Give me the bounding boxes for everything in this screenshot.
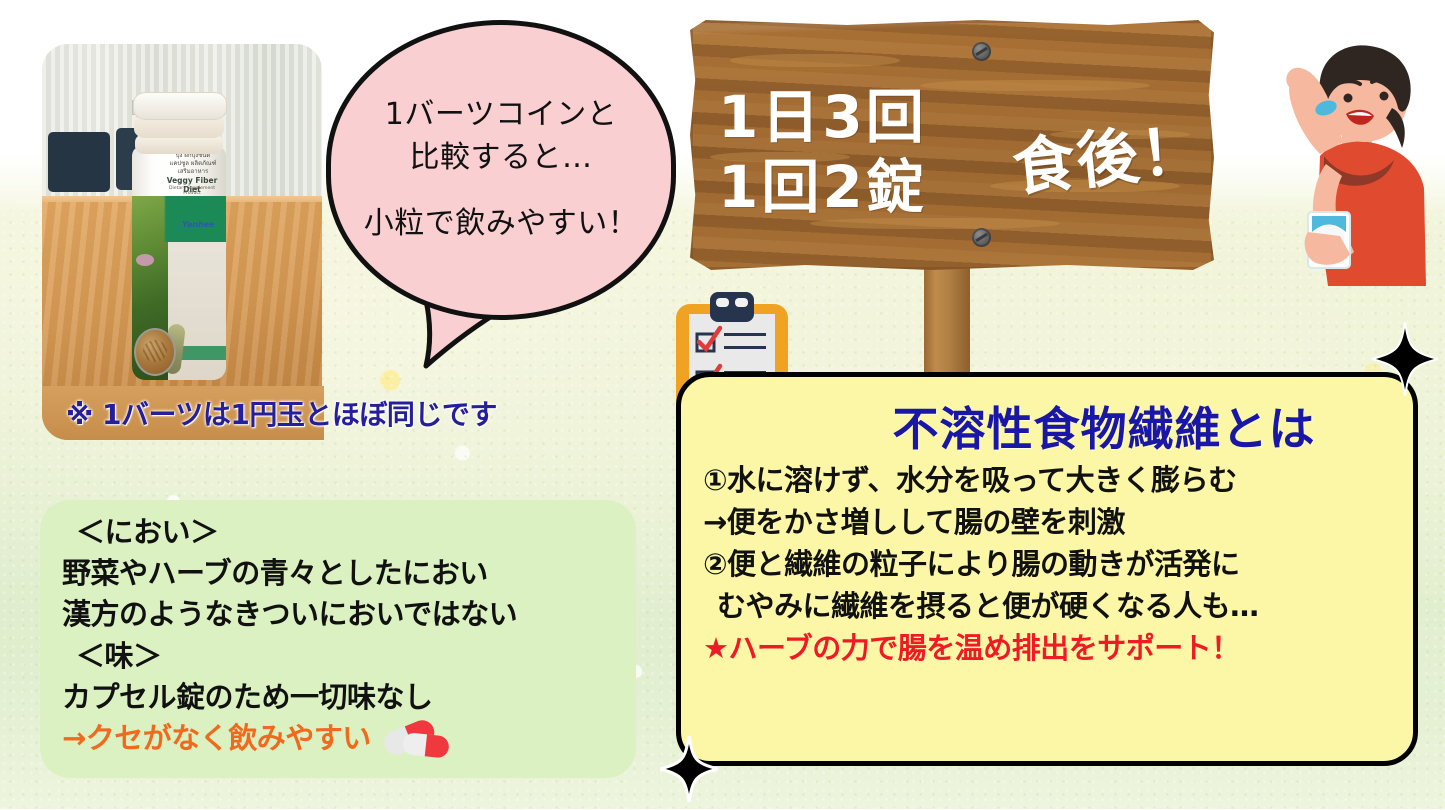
yellow-panel-line-1: ①水に溶けず、水分を吸って大きく膨らむ xyxy=(703,459,1395,501)
person-taking-pill-illustration xyxy=(1268,36,1445,326)
wooden-sign: 1日3回 1回2錠 食後！ xyxy=(690,20,1214,270)
insoluble-fiber-panel: 不溶性食物繊維とは ①水に溶けず、水分を吸って大きく膨らむ →便をかさ増しして腸… xyxy=(676,372,1418,766)
smell-and-taste-panel: ＜におい＞ 野菜やハーブの青々としたにおい 漢方のようなきついにおいではない ＜… xyxy=(40,500,636,778)
yellow-panel-line-4: むやみに繊維を摂ると便が硬くなる人も… xyxy=(703,585,1395,627)
sparkle-icon-right xyxy=(1372,322,1438,396)
sparkle-icon-left xyxy=(660,736,718,802)
bottle-brand-name: Yanhee xyxy=(182,220,214,229)
sign-screw-bottom xyxy=(972,228,991,247)
sign-screw-top xyxy=(972,42,991,61)
clipboard-clip-hole-left xyxy=(716,298,729,307)
photo-baht-coin xyxy=(134,328,176,376)
wood-grain-streak xyxy=(730,54,900,67)
green-panel-smell-line-2: 漢方のようなきついにおいではない xyxy=(62,594,616,635)
clipboard-line-1b xyxy=(724,346,766,349)
photo-chair-left xyxy=(48,132,110,192)
capsule-pills-icon xyxy=(379,718,453,758)
sign-text-line-2: 1回2錠 xyxy=(718,140,927,224)
clipboard-clip xyxy=(710,292,754,322)
green-panel-smell-heading: ＜におい＞ xyxy=(62,512,616,553)
person-eye-left xyxy=(1344,94,1353,103)
bottle-product-subtitle: Dietary Supplement Product xyxy=(164,186,220,196)
yellow-panel-highlight: ★ハーブの力で腸を温め排出をサポート！ xyxy=(703,627,1395,669)
product-photo: เวจจี้ ไฟเบอร์ ไดเอ็ท เส้นใยอาหารจากผักบ… xyxy=(42,44,322,440)
speech-bubble: 1バーツコインと 比較すると… 小粒で飲みやすい！ xyxy=(326,20,676,320)
green-panel-taste-heading: ＜味＞ xyxy=(62,636,616,677)
wood-grain-streak xyxy=(920,80,1150,91)
yellow-panel-line-2: →便をかさ増しして腸の壁を刺激 xyxy=(703,501,1395,543)
photo-caption-bar: ※ 1バーツは1円玉とほぼ同じです xyxy=(42,386,596,440)
bottle-label-green-band xyxy=(132,196,226,242)
person-eye-right xyxy=(1380,92,1389,101)
bubble-line-1: 1バーツコインと xyxy=(385,94,618,137)
bubble-line-2: 比較すると… xyxy=(410,137,593,180)
green-panel-smell-line-1: 野菜やハーブの青々としたにおい xyxy=(62,553,616,594)
bubble-line-3: 小粒で飲みやすい！ xyxy=(364,203,639,246)
yellow-panel-title: 不溶性食物繊維とは xyxy=(703,393,1395,459)
green-panel-taste-line-2: →クセがなく飲みやすい xyxy=(62,718,371,759)
green-panel-taste-line-1: カプセル錠のため一切味なし xyxy=(62,677,616,718)
photo-caption-text: ※ 1バーツは1円玉とほぼ同じです xyxy=(42,393,497,433)
capsule-front-red xyxy=(425,735,450,759)
clipboard-line-1a xyxy=(724,333,766,336)
person-body xyxy=(1286,45,1426,286)
speech-bubble-group: 1バーツコインと 比較すると… 小粒で飲みやすい！ xyxy=(316,16,684,366)
bottle-cap-ring-1 xyxy=(133,92,227,120)
clipboard-clip-hole-right xyxy=(735,298,748,307)
yellow-panel-line-3: ②便と繊維の粒子により腸の動きが活発に xyxy=(703,543,1395,585)
green-panel-taste-line-2-row: →クセがなく飲みやすい xyxy=(62,718,616,759)
